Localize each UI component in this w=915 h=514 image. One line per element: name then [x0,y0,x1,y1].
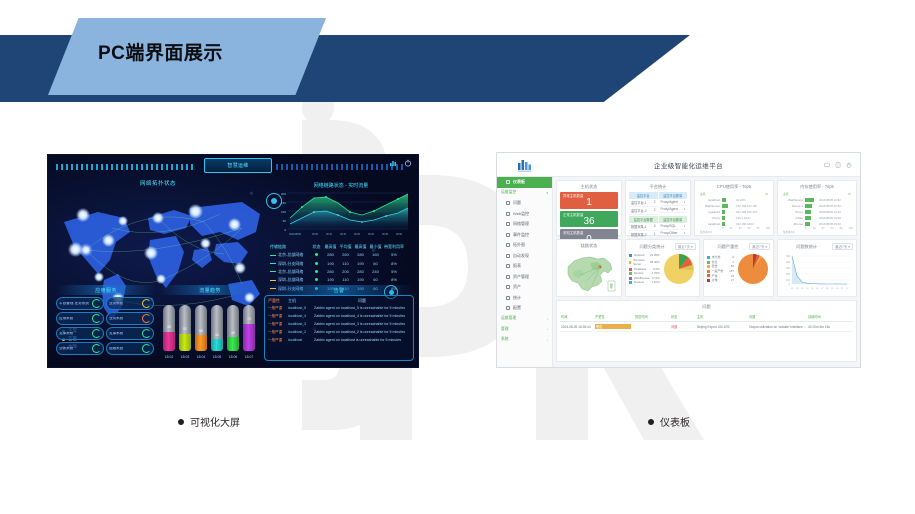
gauge-item[interactable]: 应用系统 [56,312,104,325]
tube-value: 34 [211,333,223,337]
svg-text:150: 150 [281,201,286,205]
td-host: localhost_2 [288,330,314,335]
td-host: localhost_3 [288,322,314,327]
bigscreen-header-icons[interactable] [389,159,412,167]
sidebar-item-label: 仪表板 [513,179,525,185]
hbar-fill [722,204,728,207]
gauge-item[interactable]: 业务系统 [106,297,154,310]
legend-label: Routers [634,280,644,285]
map-title: 网络拓扑状态 [48,179,268,187]
alert-row[interactable]: 一般严重 localhost_2 Zabbix agent on localho… [265,328,413,336]
screenshot-dashboard[interactable]: 企业级智能化运维平台 仪表板 运维监控 ▾ 问题 Web监控 网络管理 事件监控… [496,152,861,368]
gauge-item[interactable]: 支撑系统 [106,327,154,340]
svg-text:07: 07 [821,288,824,290]
td-host: localhost_5 [288,306,314,311]
td-problem: Output utilization on 'outside' interfac… [749,325,808,329]
table-row[interactable]: 北京-总部网络 280 200 280 240 5% [270,268,412,276]
chart-icon[interactable] [389,159,397,167]
network-icon [506,222,510,226]
td-severity: 一般严重 [268,306,288,311]
hbar-label: Nexus-1 [781,204,803,208]
svg-text:400: 400 [786,261,791,264]
link-status-map-title: 链路状态 [560,242,618,251]
alert-row[interactable]: 一般严重 localhost_3 Zabbix agent on localho… [265,321,413,329]
gauge-label: 平台管理-业务系统 [59,302,89,306]
sidebar-item-dashboard[interactable]: 仪表板 [497,177,552,188]
gauges-title: 应用服务 [95,287,117,294]
sidebar-group-label: 管理 [501,327,509,332]
table-header-row: 传输链路 状态 最高值 平均值 最高值 最小值 带宽利用率 [270,243,412,251]
hbar-value: 2024/08/05 10:52 [819,198,853,202]
stats-icon [506,296,510,300]
svg-text:03: 03 [801,288,804,290]
th-max2: 最高值 [353,244,368,250]
gauge-ring [92,314,101,323]
cpu-axis-y-label: 主机 [700,192,706,196]
hbar-fill [722,222,725,225]
sidebar-item-statistics[interactable]: 统计 [497,293,552,304]
gauge-label: 支撑系统 [109,332,123,336]
td-v1: 190 [323,277,338,283]
config-icon [506,306,510,310]
gauge-ring [142,314,151,323]
sidebar-item-label: 统计 [513,295,521,301]
gauge-item[interactable]: 业务系统 [56,342,104,355]
th-problem: 问题 [314,298,410,304]
gauge-item[interactable]: 支撑系统 [56,327,104,340]
table-row[interactable]: 深圳-分支网络 190 110 190 60 8% [270,259,412,267]
axis-tick: 0 [805,227,806,230]
traffic-chart-card: 网络链路状态 - 实时流量 200 150 100 50 0 [268,181,414,243]
hbar-fill [805,198,814,201]
problem-category-card: 问题分类统计 最近7天 ▾ Network23.05% Windows Serv… [625,239,700,297]
svg-text:500: 500 [786,255,791,258]
hbar-value: 2024/08/05 09:58 [819,216,853,220]
dashboard-topbar: 企业级智能化运维平台 [497,153,860,177]
tube-fill [195,335,207,351]
hbar-track [722,198,734,201]
td-problem: Zabbix agent on localhost_2 is unreachab… [314,330,410,335]
alert-table-header: 严重性 主机 问题 [265,296,413,305]
hbar-value: 192.2.33.57 [736,216,770,220]
td-link: 深圳-分支网络 [278,261,303,266]
td-problem: Zabbix agent on localhost_3 is unreachab… [314,322,410,327]
td-v5: 8% [383,277,405,283]
svg-text:12: 12 [846,288,849,290]
sidebar-group-monitoring[interactable]: 运维监控 ▾ [497,188,552,199]
mini-dot: ▪ [684,200,685,204]
svg-text:300: 300 [786,267,791,270]
svg-text:00:20: 00:20 [354,233,361,236]
sidebar-item-topology[interactable]: 拓扑图 [497,240,552,251]
stat-normal-hosts[interactable]: 正常主机数量 36 [560,211,618,228]
tube-value: 52 [179,327,191,331]
mini-th-right: 监控平台数量 [659,216,688,223]
hbar-label: mSite [781,216,803,220]
problems-table-header: 时间 严重性 恢复时间 状态 主机 问题 持续时间 [560,312,853,322]
tube-label: 18:07 [241,355,257,359]
hbar-label: WebServer [781,198,803,202]
th-host: 主机 [288,298,314,304]
td-v1: 280 [323,269,338,275]
problem-trend-card: 问题数统计 最近7天 ▾ 500400300 2001000 [777,239,857,297]
tube-bar[interactable] [243,305,255,351]
tube-fill [179,334,191,351]
mini-td: Proxy/SQL [661,224,676,228]
tube-label: 18:03 [177,355,193,359]
th-severity: 严重性 [595,314,635,319]
gauge-ring [92,329,101,338]
cmdb-icon [506,285,510,289]
dashboard-body: 主机状态 异常主机数量 1 正常主机数量 36 未知主机数量 0 平台统计 [553,177,860,367]
table-row[interactable]: 2024-08-05 16:35:44 警告 问题 Beijing Export… [560,322,853,332]
bars-section-header: 流量趋势 [160,285,260,295]
gauge-label: 业务系统 [109,317,123,321]
status-dot [315,278,318,281]
axis-tick: 0 [722,227,723,230]
left-arrow-decoration [56,164,196,170]
mini-th-right: 监控平台数量 [659,192,688,199]
problem-severity-header: 问题严重性 最近7天 ▾ [707,242,770,252]
tube-label: 18:05 [209,355,225,359]
china-map[interactable] [560,251,618,295]
sidebar-item-network[interactable]: 网络管理 [497,219,552,230]
td-host: localhost [288,338,314,343]
sidebar-group-system[interactable]: 系统› [497,335,552,346]
tube-label: 18:04 [193,355,209,359]
sidebar-group-ops[interactable]: 运维管理› [497,314,552,325]
bars-title: 流量趋势 [199,287,221,294]
td-v2: 260 [338,252,353,258]
svg-text:100: 100 [281,210,286,214]
caption-right: 仪表板 [648,414,690,429]
th-time: 时间 [561,314,595,319]
power-icon[interactable] [846,162,852,168]
th-link: 传输链路 [270,244,310,250]
table-row[interactable]: 深圳-总部网络 190 110 190 60 8% [270,276,412,284]
platform-stats-title: 平台统计 [629,183,687,192]
axis-tick: 100 [849,227,853,230]
dashboard-icon [506,180,510,184]
alert-row[interactable]: 一般严重 localhost Zabbix agent on localhost… [265,336,413,344]
svg-text:00:15: 00:15 [340,233,347,236]
mini-th-left: 监控平台 [629,192,658,199]
bullet-icon [178,419,184,425]
axis-tick: 20 [813,227,816,230]
caption-right-label: 仪表板 [660,414,690,429]
power-icon[interactable] [404,159,412,167]
mini-row[interactable]: Proxy/Agent▪ [659,199,688,206]
report-icon [506,264,510,268]
tube-label: 18:02 [161,355,177,359]
axis-tick: 80 [840,227,843,230]
td-v3: 280 [353,252,368,258]
problem-severity-pie[interactable] [736,252,770,286]
sidebar-group-label: 运维监控 [501,190,516,195]
sidebar-item-web-monitor[interactable]: Web监控 [497,209,552,220]
app-logo-icon[interactable] [497,158,553,172]
tube-value: 48 [163,325,175,329]
page-header-banner: PC端界面展示 [0,0,915,120]
chevron-right-icon: › [547,317,548,321]
hbar-value: 2024/08/05 10:22 [819,210,853,214]
svg-text:05: 05 [811,288,814,290]
svg-text:00:10: 00:10 [326,233,333,236]
mini-row[interactable]: 监控平台-22 [629,207,658,215]
th-util: 带宽利用率 [383,244,405,250]
gauge-ring [142,299,151,308]
gauge-item[interactable]: 业务系统 [106,312,154,325]
svg-text:2024/08/05: 2024/08/05 [289,233,302,236]
cpu-top5-title: CPU使用率 - Top5 [698,183,770,192]
th-recovery: 恢复时间 [635,314,671,319]
sidebar-item-problems[interactable]: 问题 [497,198,552,209]
td-severity: 一般严重 [268,338,288,343]
status-dot [315,270,318,273]
period-select[interactable]: 最近7天 ▾ [749,243,770,250]
td-v5: 5% [383,269,405,275]
dashboard-row-2: 链路状态 问题分类统计 最近7天 ▾ [556,239,857,297]
problem-severity-title: 问题严重性 [707,244,750,250]
td-v5: 5% [383,252,405,258]
sidebar-item-label: 资产 [513,284,521,290]
hbar-label: Zhome [781,222,803,226]
tube-bar[interactable] [211,305,223,351]
axis-tick: 100 [766,227,770,230]
th-severity: 严重性 [268,298,288,304]
mini-td-count: 2 [654,200,656,205]
mini-row[interactable]: Proxy/Agent▪ [659,206,688,213]
sidebar-item-discovery[interactable]: 自动发现 [497,251,552,262]
sidebar-item-label: 报表 [513,263,521,269]
legend-item: Routers1.10% [629,280,660,285]
mini-row[interactable]: 数据采集-13 [629,223,658,231]
web-icon [506,212,510,216]
td-problem: Zabbix agent on localhost_4 is unreachab… [314,314,410,319]
problem-category-header: 问题分类统计 最近7天 ▾ [629,242,696,252]
td-duration: 4h 20m 6m 16s [808,325,852,329]
platform-table-2: 监控平台数据 监控平台数量 数据采集-13 数据采集-21 Proxy/SQL▪… [629,216,687,239]
sidebar-group-admin[interactable]: 管理› [497,324,552,335]
axis-tick: 60 [748,227,751,230]
legend-value: 17 [731,278,734,283]
hbar-fill [805,204,812,207]
sidebar-item-label: 事件监控 [513,232,529,238]
svg-text:100: 100 [786,279,791,282]
td-link: 北京-总部网络 [278,252,303,257]
td-v3: 190 [353,277,368,283]
th-problem: 问题 [749,314,808,319]
tube-bar[interactable] [195,305,207,351]
stat-label: 异常主机数量 [563,193,615,198]
memory-top5-title: 内存使用率 - Top5 [781,183,853,192]
th-host: 主机 [697,314,749,319]
mini-td-count: 3 [654,224,656,229]
sidebar-group-label: 系统 [501,337,509,342]
message-icon[interactable] [824,162,830,168]
th-max: 最高值 [323,244,338,250]
th-status: 状态 [310,244,323,250]
svg-text:11: 11 [841,288,844,290]
period-select-value: 最近7天 [678,245,690,249]
platform-stats-card: 平台统计 监控平台 监控平台数量 监控平台-12 监控平台-22 Proxy/A… [625,180,691,236]
svg-text:50: 50 [283,219,287,223]
gauge-item[interactable]: 平台管理-业务系统 [56,297,104,310]
mini-row[interactable]: 监控平台-12 [629,199,658,207]
hbar-label: mysql-01 [698,210,720,214]
sidebar-item-reports[interactable]: 报表 [497,261,552,272]
bullet-icon [648,419,654,425]
service-gauge-list: 平台管理-业务系统 业务系统 应用系统 业务系统 支撑系统 支撑系统 业务系统 … [56,297,156,355]
tube-value: 40 [227,331,239,335]
sidebar-item-label: 问题 [513,200,521,206]
svg-text:08: 08 [826,288,829,290]
legend-value: 1.10% [652,280,660,285]
mini-row[interactable]: 数据采集-21 [629,231,658,239]
page-title: PC端界面展示 [98,38,338,65]
svg-text:09: 09 [831,288,834,290]
th-status: 状态 [671,314,697,319]
host-status-title: 主机状态 [560,183,618,192]
tube-value: 56 [195,329,207,333]
problem-category-title: 问题分类统计 [629,244,675,250]
td-severity: 一般严重 [268,314,288,319]
alert-row[interactable]: 一般严重 localhost_4 Zabbix agent on localho… [265,313,413,321]
sidebar-item-label: 拓扑图 [513,242,525,248]
legend-label: Windows Server [633,258,648,267]
right-arrow-decoration [276,164,406,170]
hbar-label: Proxy [781,210,803,214]
problem-severity-legend: 未分类0 信息1 警告82 一般严重187 严重23 灾难17 [707,255,734,283]
sidebar-item-asset-mgmt[interactable]: 资产管理 [497,272,552,283]
hbar-label: localhost [698,222,720,226]
td-v4: 60 [368,277,383,283]
svg-text:10: 10 [836,288,839,290]
alert-row[interactable]: 一般严重 localhost_5 Zabbix agent on localho… [265,305,413,313]
td-v4: 60 [368,261,383,267]
table-row[interactable]: 北京-总部网络 280 260 280 160 5% [270,251,412,259]
td-v4: 240 [368,269,383,275]
legend-value: 38.00% [650,260,660,265]
traffic-chart-title: 网络链路状态 - 实时流量 [268,182,414,189]
stat-abnormal-hosts[interactable]: 异常主机数量 1 [560,192,618,209]
tube-bar[interactable] [227,305,239,351]
td-v5: 8% [383,261,405,267]
stat-value: 36 [563,217,615,227]
svg-text:00:60: 00:60 [396,233,403,236]
mini-dot: ▪ [684,207,685,211]
mini-td-count: 2 [654,208,656,213]
memory-axis-y-label: 主机 [783,192,789,196]
hbar-label: Proxy [698,216,720,220]
gauge-item[interactable]: 运维系统 [106,342,154,355]
problem-trend-chart[interactable]: 500400300 2001000 01020304 05060708 0910… [781,252,853,292]
sidebar-item-events[interactable]: 事件监控 [497,230,552,241]
status-dot [315,262,318,265]
hbar-track [805,210,817,213]
period-select[interactable]: 最近7天 ▾ [675,243,696,250]
hbar-track [805,222,817,225]
svg-text:0: 0 [284,228,286,232]
hbar-value: 2024/08/05 09:40 [819,222,853,226]
book-icon[interactable] [835,162,841,168]
hbar-value: 32.22% [736,198,770,202]
td-problem: Zabbix agent on localhost is unreachable… [314,338,410,343]
hbar-track [805,204,817,207]
svg-text:0: 0 [789,283,791,286]
screenshot-visualization-bigscreen[interactable]: 智慧运维 网络拓扑状态 [48,155,418,367]
host-status-card: 主机状态 异常主机数量 1 正常主机数量 36 未知主机数量 0 [556,180,622,236]
alert-icon [506,201,510,205]
problem-trend-header: 问题数统计 最近7天 ▾ [781,242,853,252]
severity-badge: 警告 [595,324,631,329]
status-badge: 问题 [671,324,697,329]
hbar-label: WebServer [698,204,720,208]
legend-label: 灾难 [712,278,718,283]
svg-text:04: 04 [806,288,809,290]
mini-row[interactable]: Proxy/Other▪ [659,230,688,237]
gauge-label: 运维系统 [109,347,123,351]
dashboard-row-1: 主机状态 异常主机数量 1 正常主机数量 36 未知主机数量 0 平台统计 [556,180,857,236]
axis-tick: 40 [822,227,825,230]
tube-fill [163,332,175,351]
gauge-ring [142,344,151,353]
problem-category-pie[interactable] [662,252,696,286]
hbar-value: 192.168.100.156 [736,204,770,208]
stat-label: 未知主机数量 [563,230,615,235]
axis-tick: 60 [831,227,834,230]
dashboard-sidebar[interactable]: 仪表板 运维监控 ▾ 问题 Web监控 网络管理 事件监控 拓扑图 自动发现 报… [497,177,553,367]
tube-label: 18:06 [225,355,241,359]
sidebar-item-assets[interactable]: 资产 [497,282,552,293]
chevron-down-icon: ▾ [546,191,548,195]
td-host: localhost_4 [288,314,314,319]
sidebar-item-label: 网络管理 [513,221,529,227]
bigscreen-title-box: 智慧运维 [204,158,272,173]
bigscreen-topbar: 智慧运维 [48,155,418,177]
status-dot [315,253,318,256]
problem-category-legend: Network23.05% Windows Server38.00% Datab… [629,253,660,285]
dashboard-title: 企业级智能化运维平台 [553,160,824,170]
mini-td: 监控平台-2 [631,208,647,213]
period-select[interactable]: 最近7天 ▾ [832,243,853,250]
svg-text:06: 06 [816,288,819,290]
hbar-value: 2024/08/05 10:30 [819,204,853,208]
gauge-ring [92,344,101,353]
platform-table-1: 监控平台 监控平台数量 监控平台-12 监控平台-22 Proxy/Agent▪… [629,192,687,215]
td-v2: 110 [338,277,353,283]
hbar-value: 192.168.100.178 [736,210,770,214]
memory-top5-card: 内存使用率 - Top5 主机IP WebServer2024/08/05 10… [777,180,857,236]
dashboard-header-actions[interactable] [824,162,860,168]
link-status-map-card: 链路状态 [556,239,622,297]
th-min: 最小值 [368,244,383,250]
caption-left-label: 可视化大屏 [190,414,240,429]
period-select-value: 最近7天 [752,245,764,249]
sidebar-group-label: 运维管理 [501,316,516,321]
problem-severity-card: 问题严重性 最近7天 ▾ 未分类0 信息1 警告82 一般严重187 严重23 … [703,239,774,297]
hbar-fill [722,198,726,201]
topology-icon [506,243,510,247]
sidebar-item-config[interactable]: 配置 [497,303,552,314]
gauge-label: 应用系统 [59,317,73,321]
hbar-fill [805,222,810,225]
svg-text:200: 200 [786,273,791,276]
alerts-title: 告警 [334,287,345,294]
td-v2: 200 [338,269,353,275]
event-icon [506,233,510,237]
mini-row[interactable]: Proxy/SQL▪ [659,223,688,230]
